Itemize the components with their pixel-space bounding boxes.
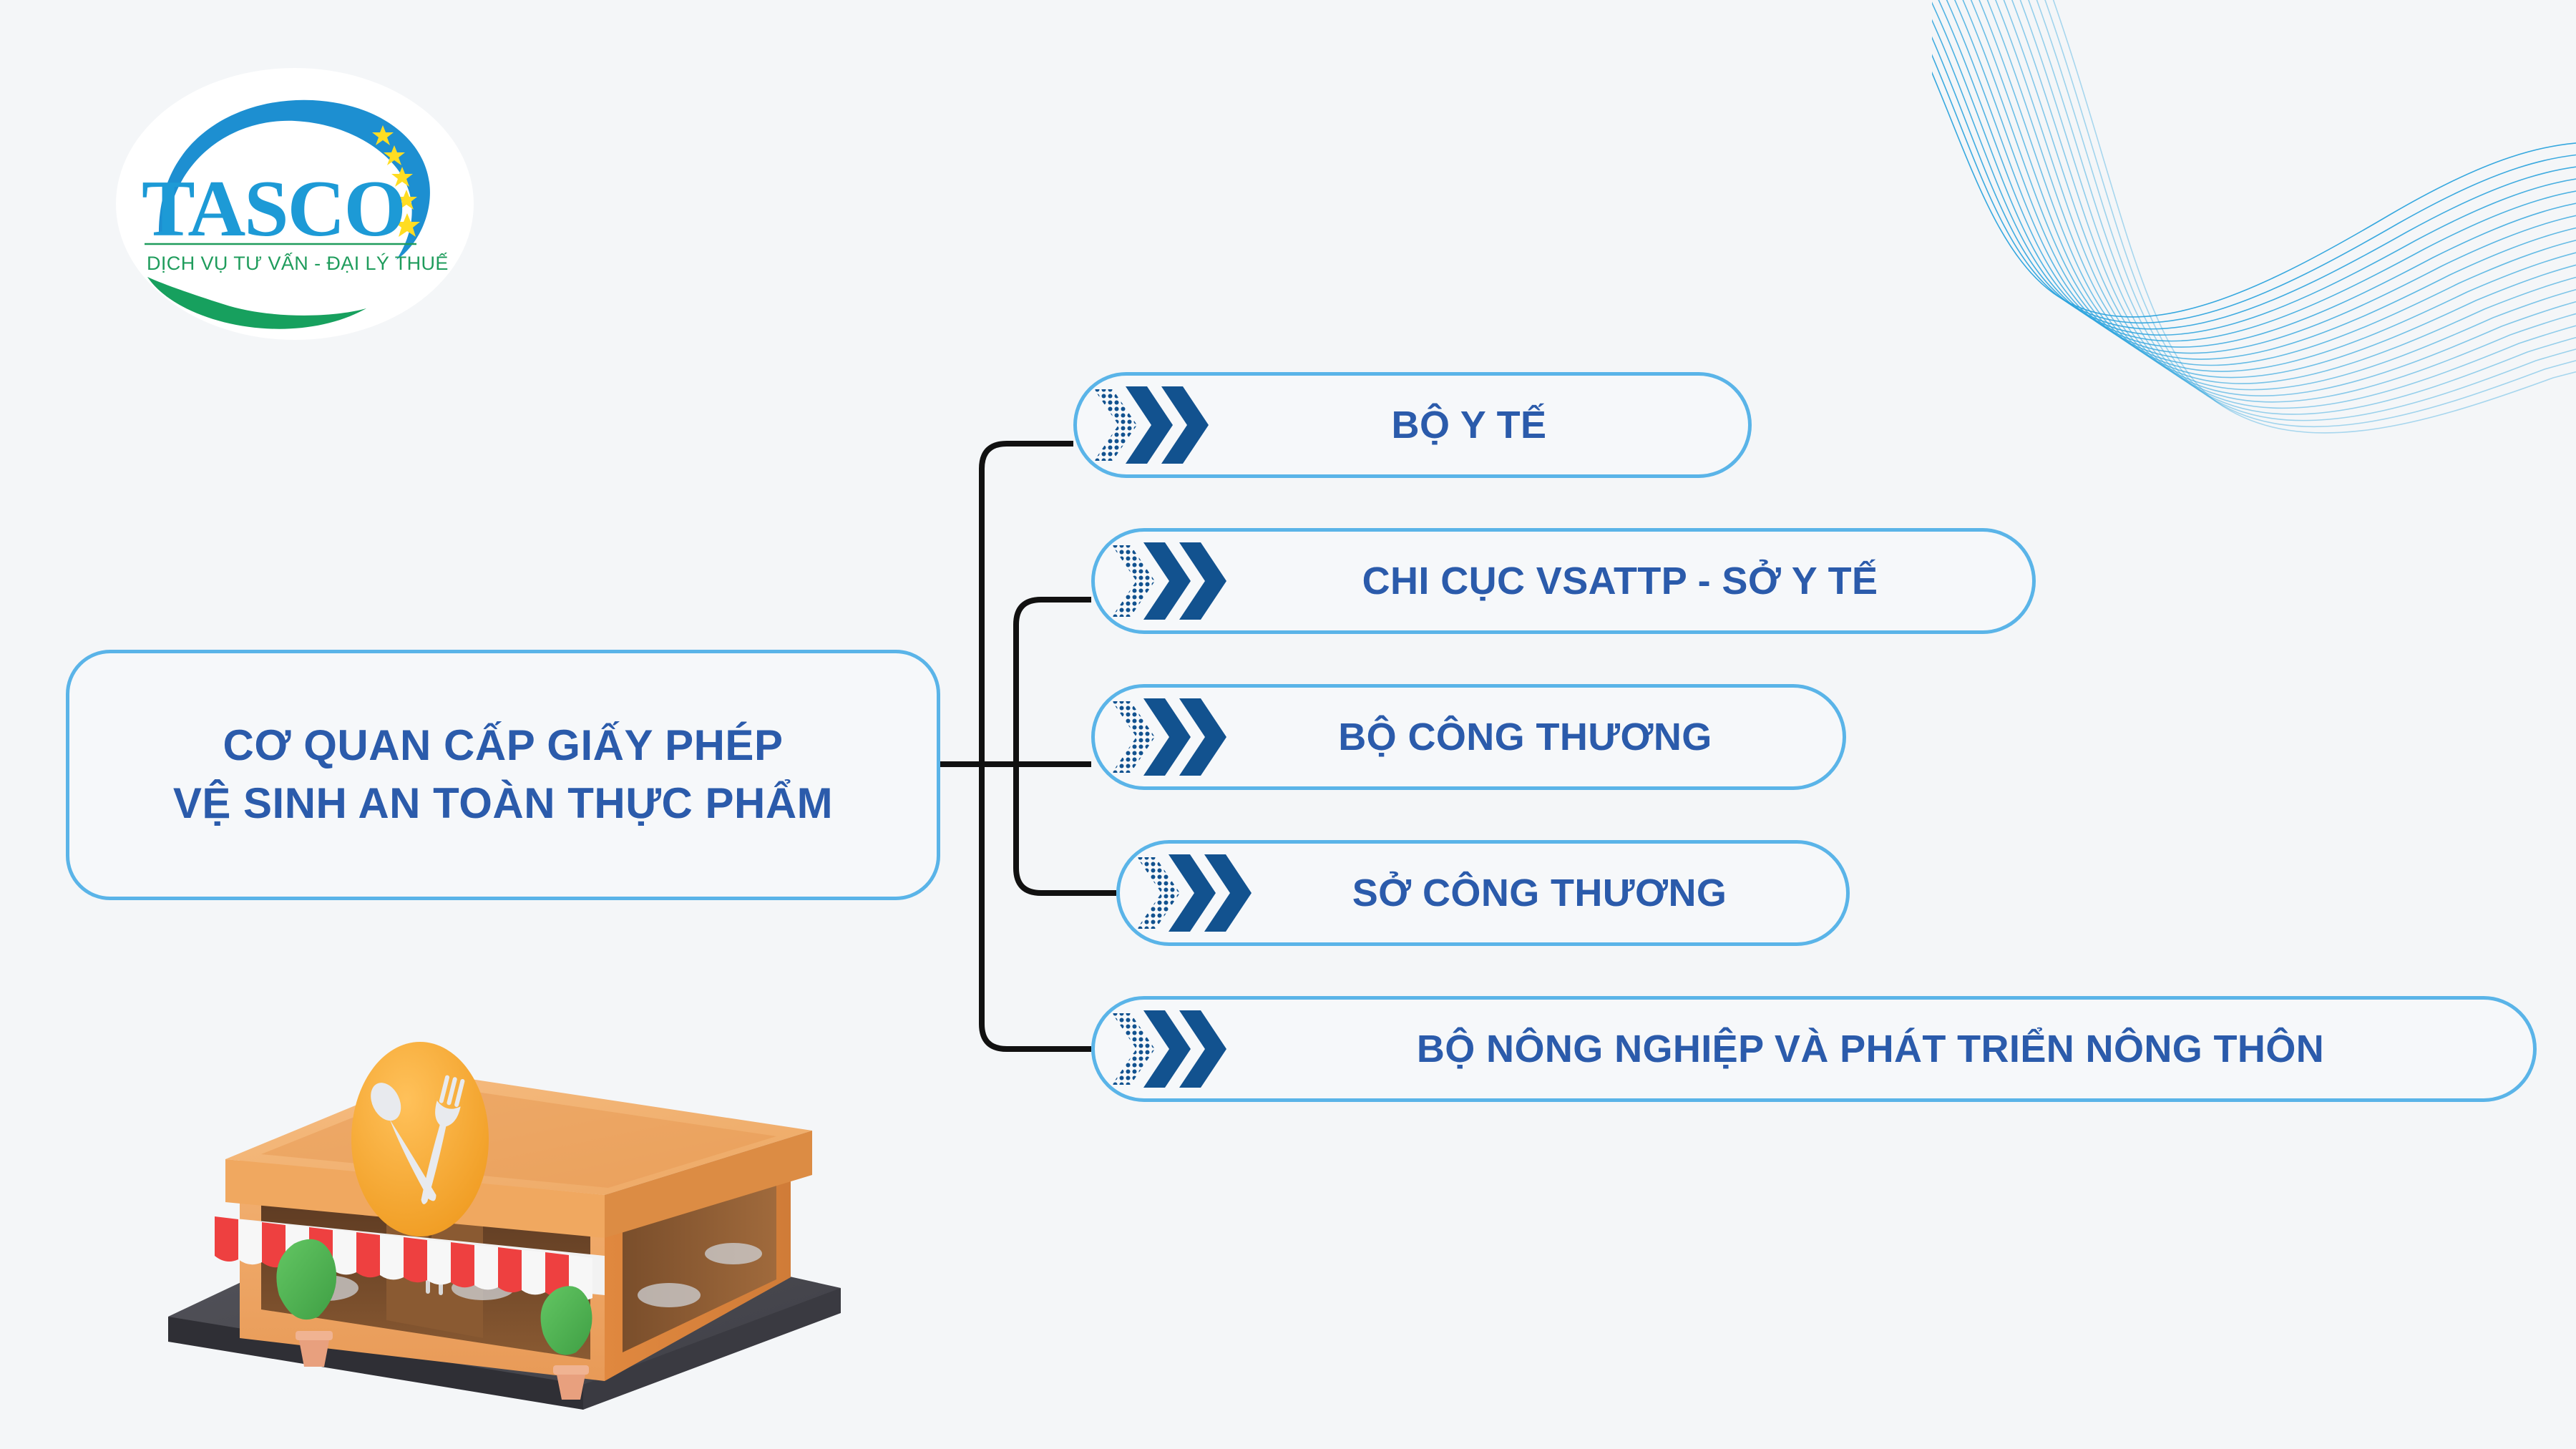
- shop-sign: [351, 1042, 489, 1236]
- triple-chevron-icon: [1094, 386, 1214, 464]
- branch-so-cong-thuong[interactable]: SỞ CÔNG THƯƠNG: [1116, 840, 1850, 946]
- logo-graphic: TASCO DỊCH VỤ TƯ VẤN - ĐẠI LÝ THUẾ: [116, 68, 474, 340]
- branch-label: BỘ NÔNG NGHIỆP VÀ PHÁT TRIỂN NÔNG THÔN: [1245, 1027, 2496, 1071]
- logo-wordmark: TASCO: [142, 165, 405, 253]
- wave-lines-decoration: [1932, 0, 2576, 644]
- root-node-co-quan-cap-giay-phep[interactable]: CƠ QUAN CẤP GIẤY PHÉP VỆ SINH AN TOÀN TH…: [66, 650, 940, 900]
- triple-chevron-icon: [1112, 1010, 1232, 1088]
- branch-bo-nong-nghiep-ptnt[interactable]: BỘ NÔNG NGHIỆP VÀ PHÁT TRIỂN NÔNG THÔN: [1091, 996, 2537, 1102]
- logo-tagline: DỊCH VỤ TƯ VẤN - ĐẠI LÝ THUẾ: [147, 252, 449, 274]
- branch-chi-cuc-vsattp[interactable]: CHI CỤC VSATTP - SỞ Y TẾ: [1091, 528, 2036, 634]
- branch-label: BỘ CÔNG THƯƠNG: [1245, 715, 1805, 759]
- connector-branch-1: [982, 444, 1073, 764]
- connector-branch-4: [1016, 764, 1116, 893]
- branch-label: BỘ Y TẾ: [1227, 403, 1711, 447]
- connector-branch-2: [1016, 600, 1091, 764]
- root-line-1: CƠ QUAN CẤP GIẤY PHÉP: [223, 723, 784, 769]
- triple-chevron-icon: [1112, 542, 1232, 620]
- tasco-logo: TASCO DỊCH VỤ TƯ VẤN - ĐẠI LÝ THUẾ: [116, 68, 474, 340]
- branch-label: CHI CỤC VSATTP - SỞ Y TẾ: [1245, 559, 1995, 603]
- branch-bo-y-te[interactable]: BỘ Y TẾ: [1073, 372, 1752, 478]
- root-line-2: VỆ SINH AN TOÀN THỰC PHẨM: [173, 781, 833, 827]
- restaurant-shop-3d-illustration: [147, 980, 862, 1410]
- logo-swoosh: [147, 277, 366, 329]
- branch-label: SỞ CÔNG THƯƠNG: [1270, 871, 1809, 915]
- branch-bo-cong-thuong[interactable]: BỘ CÔNG THƯƠNG: [1091, 684, 1846, 790]
- connector-branch-5: [982, 764, 1091, 1049]
- triple-chevron-icon: [1112, 698, 1232, 776]
- triple-chevron-icon: [1137, 854, 1257, 932]
